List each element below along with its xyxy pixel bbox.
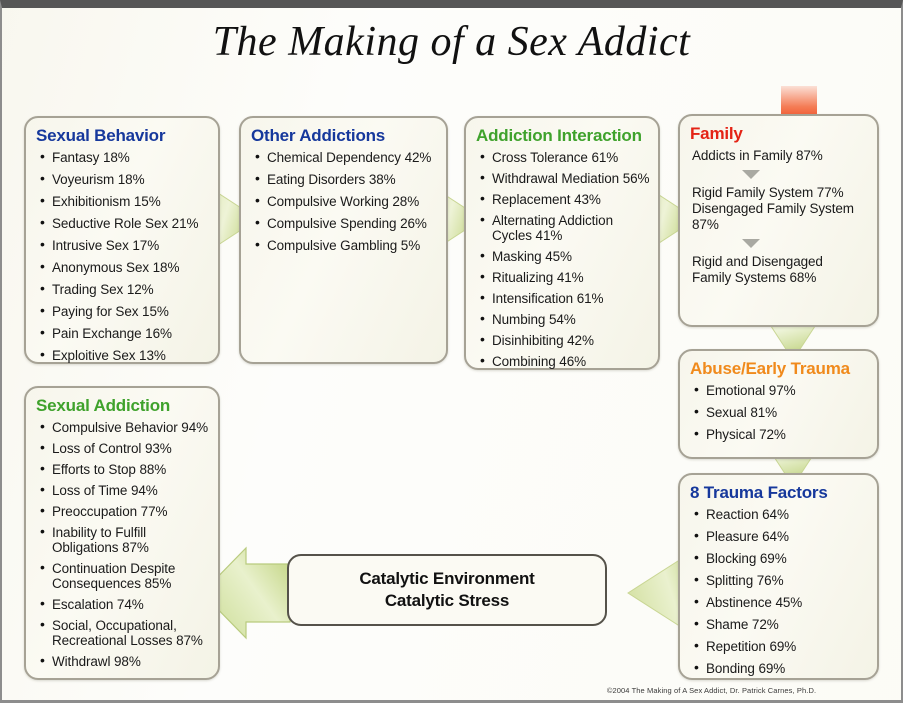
- list-item: Replacement 43%: [480, 192, 652, 207]
- list-item: Pleasure 64%: [694, 529, 871, 544]
- box-abuse-early-trauma[interactable]: Abuse/Early Trauma Emotional 97% Sexual …: [678, 349, 879, 459]
- family-line-disengaged: Disengaged Family System 87%: [692, 201, 877, 233]
- catalytic-line-1: Catalytic Environment: [359, 568, 534, 590]
- list-item: Cross Tolerance 61%: [480, 150, 652, 165]
- list-item: Numbing 54%: [480, 312, 652, 327]
- list-item: Bonding 69%: [694, 661, 871, 676]
- list-sexual-behavior: Fantasy 18% Voyeurism 18% Exhibitionism …: [26, 150, 218, 363]
- list-other-addictions: Chemical Dependency 42% Eating Disorders…: [241, 150, 446, 253]
- box-sexual-addiction[interactable]: Sexual Addiction Compulsive Behavior 94%…: [24, 386, 220, 680]
- list-item: Exploitive Sex 13%: [40, 348, 212, 363]
- list-item: Compulsive Gambling 5%: [255, 238, 440, 253]
- list-item: Eating Disorders 38%: [255, 172, 440, 187]
- list-item: Withdrawl 98%: [40, 654, 212, 669]
- list-item: Compulsive Behavior 94%: [40, 420, 212, 435]
- list-item: Ritualizing 41%: [480, 270, 652, 285]
- box-title-sexual-behavior: Sexual Behavior: [36, 126, 218, 146]
- list-item: Blocking 69%: [694, 551, 871, 566]
- copyright-label: ©2004 The Making of A Sex Addict, Dr. Pa…: [87, 686, 816, 695]
- list-item: Compulsive Working 28%: [255, 194, 440, 209]
- box-title-8-trauma-factors: 8 Trauma Factors: [690, 483, 877, 503]
- box-addiction-interaction[interactable]: Addiction Interaction Cross Tolerance 61…: [464, 116, 660, 370]
- list-item: Chemical Dependency 42%: [255, 150, 440, 165]
- family-line-rigid: Rigid Family System 77%: [692, 185, 877, 201]
- list-item: Splitting 76%: [694, 573, 871, 588]
- list-item: Emotional 97%: [694, 383, 871, 398]
- diagram-page: The Making of a Sex Addict: [0, 0, 903, 703]
- list-item: Shame 72%: [694, 617, 871, 632]
- box-8-trauma-factors[interactable]: 8 Trauma Factors Reaction 64% Pleasure 6…: [678, 473, 879, 680]
- list-item: Sexual 81%: [694, 405, 871, 420]
- family-line-rigid-and-disengaged-1: Rigid and Disengaged: [692, 254, 877, 270]
- list-item: Repetition 69%: [694, 639, 871, 654]
- list-sexual-addiction: Compulsive Behavior 94% Loss of Control …: [26, 420, 218, 669]
- down-triangle-icon: [742, 239, 760, 248]
- list-item: Escalation 74%: [40, 597, 212, 612]
- list-item: Compulsive Spending 26%: [255, 216, 440, 231]
- list-item: Continuation Despite Consequences 85%: [40, 561, 212, 591]
- box-sexual-behavior[interactable]: Sexual Behavior Fantasy 18% Voyeurism 18…: [24, 116, 220, 364]
- list-item: Efforts to Stop 88%: [40, 462, 212, 477]
- list-item: Trading Sex 12%: [40, 282, 212, 297]
- box-title-abuse-early-trauma: Abuse/Early Trauma: [690, 359, 877, 379]
- list-item: Combining 46%: [480, 354, 652, 369]
- family-line-addicts: Addicts in Family 87%: [692, 148, 877, 164]
- box-title-other-addictions: Other Addictions: [251, 126, 446, 146]
- list-item: Reaction 64%: [694, 507, 871, 522]
- family-line-rigid-and-disengaged-2: Family Systems 68%: [692, 270, 877, 286]
- down-triangle-icon: [742, 170, 760, 179]
- box-catalytic-environment[interactable]: Catalytic Environment Catalytic Stress: [287, 554, 607, 626]
- box-title-family: Family: [690, 124, 877, 144]
- list-item: Intrusive Sex 17%: [40, 238, 212, 253]
- page-title: The Making of a Sex Addict: [2, 18, 901, 66]
- list-item: Masking 45%: [480, 249, 652, 264]
- list-item: Anonymous Sex 18%: [40, 260, 212, 275]
- list-item: Social, Occupational, Recreational Losse…: [40, 618, 212, 648]
- box-title-sexual-addiction: Sexual Addiction: [36, 396, 218, 416]
- list-item: Preoccupation 77%: [40, 504, 212, 519]
- box-other-addictions[interactable]: Other Addictions Chemical Dependency 42%…: [239, 116, 448, 364]
- list-item: Withdrawal Mediation 56%: [480, 171, 652, 186]
- box-title-addiction-interaction: Addiction Interaction: [476, 126, 658, 146]
- list-item: Disinhibiting 42%: [480, 333, 652, 348]
- list-item: Pain Exchange 16%: [40, 326, 212, 341]
- list-trauma-factors: Reaction 64% Pleasure 64% Blocking 69% S…: [680, 507, 877, 676]
- list-item: Abstinence 45%: [694, 595, 871, 610]
- list-item: Loss of Control 93%: [40, 441, 212, 456]
- box-family[interactable]: Family Addicts in Family 87% Rigid Famil…: [678, 114, 879, 327]
- list-addiction-interaction: Cross Tolerance 61% Withdrawal Mediation…: [466, 150, 658, 369]
- list-item: Loss of Time 94%: [40, 483, 212, 498]
- list-item: Fantasy 18%: [40, 150, 212, 165]
- catalytic-line-2: Catalytic Stress: [385, 590, 509, 612]
- list-item: Exhibitionism 15%: [40, 194, 212, 209]
- diagram-canvas: The Making of a Sex Addict: [2, 8, 901, 700]
- list-item: Inability to Fulfill Obligations 87%: [40, 525, 212, 555]
- list-abuse-early-trauma: Emotional 97% Sexual 81% Physical 72%: [680, 383, 877, 442]
- list-item: Paying for Sex 15%: [40, 304, 212, 319]
- list-item: Seductive Role Sex 21%: [40, 216, 212, 231]
- list-item: Alternating Addiction Cycles 41%: [480, 213, 652, 243]
- list-item: Intensification 61%: [480, 291, 652, 306]
- list-item: Voyeurism 18%: [40, 172, 212, 187]
- copyright-text: ©2004 The Making of A Sex Addict, Dr. Pa…: [2, 686, 901, 695]
- list-item: Physical 72%: [694, 427, 871, 442]
